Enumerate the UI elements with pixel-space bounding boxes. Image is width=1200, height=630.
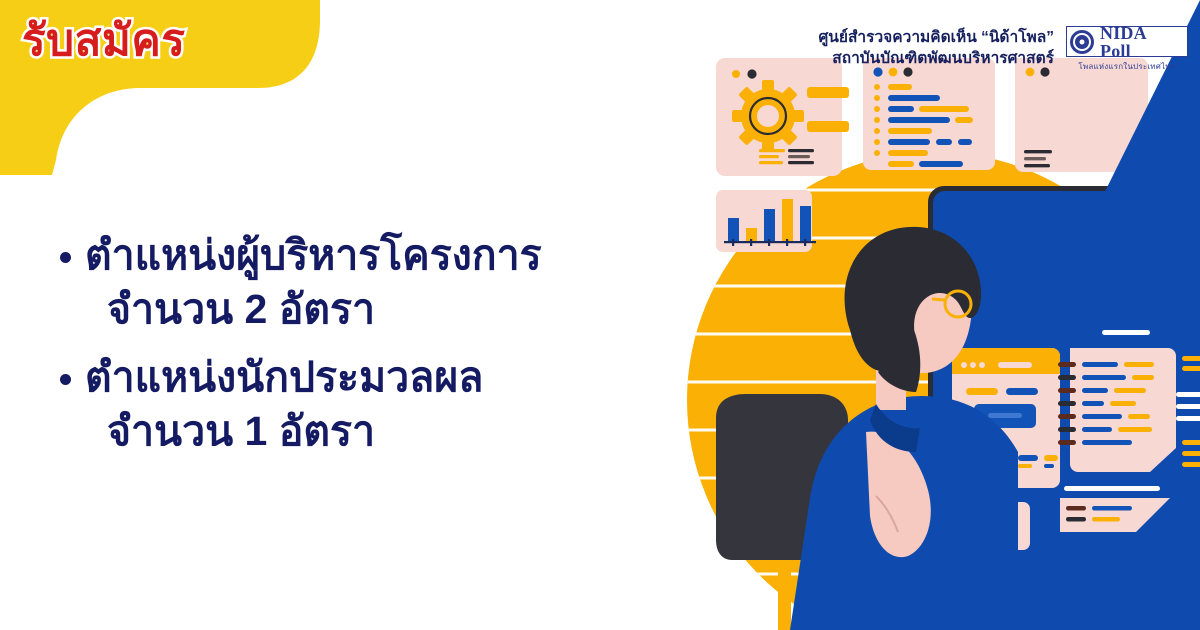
brand-line-2: สถาบันบัณฑิตพัฒนบริหารศาสตร์: [818, 49, 1054, 70]
data-list-card: [1058, 348, 1176, 472]
position-count: จำนวน 1 อัตรา: [85, 404, 483, 458]
illustration: [670, 0, 1200, 630]
banner-title: รับสมัคร: [22, 18, 186, 64]
position-text: ตำแหน่งผู้บริหารโครงการ จำนวน 2 อัตรา: [85, 228, 542, 336]
positions-list: ตำแหน่งผู้บริหารโครงการ จำนวน 2 อัตรา ตำ…: [60, 228, 700, 472]
logo-wordmark: NIDA Poll: [1100, 24, 1180, 60]
bar-chart-card: [716, 190, 816, 252]
poster-canvas: รับสมัคร ศูนย์สำรวจความคิดเห็น “นิด้าโพล…: [0, 0, 1200, 630]
brand-text: ศูนย์สำรวจความคิดเห็น “นิด้าโพล” สถาบันบ…: [818, 26, 1054, 70]
position-count: จำนวน 2 อัตรา: [85, 282, 542, 336]
list-item: ตำแหน่งผู้บริหารโครงการ จำนวน 2 อัตรา: [60, 228, 700, 336]
logo-box: NIDA Poll: [1066, 26, 1188, 57]
list-item: ตำแหน่งนักประมวลผล จำนวน 1 อัตรา: [60, 350, 700, 458]
brand-line-1: ศูนย์สำรวจความคิดเห็น “นิด้าโพล”: [818, 28, 1054, 49]
position-text: ตำแหน่งนักประมวลผล จำนวน 1 อัตรา: [85, 350, 483, 458]
nida-poll-logo: NIDA Poll โพลแห่งแรกในประเทศไทย: [1066, 26, 1188, 73]
position-title: ตำแหน่งผู้บริหารโครงการ: [85, 232, 542, 278]
bullet-dot-icon: [60, 374, 71, 385]
code-card: [863, 58, 995, 170]
logo-tagline: โพลแห่งแรกในประเทศไทย: [1078, 60, 1175, 72]
settings-card: [716, 58, 849, 176]
brand-header: ศูนย์สำรวจความคิดเห็น “นิด้าโพล” สถาบันบ…: [818, 26, 1188, 73]
nida-emblem-icon: [1070, 30, 1094, 54]
bullet-dot-icon: [60, 252, 71, 263]
position-title: ตำแหน่งนักประมวลผล: [85, 354, 483, 400]
